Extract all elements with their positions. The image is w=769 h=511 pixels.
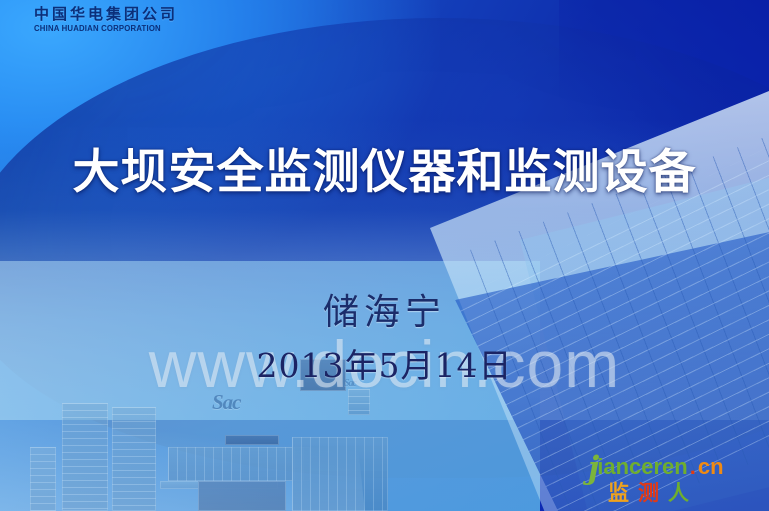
photo-building — [30, 447, 56, 511]
photo-canopy — [225, 435, 279, 445]
title-slide: Sac Sac 中国华电集团公司 CHINA HUADIAN CORPORATI… — [0, 0, 769, 511]
site-logo-char-1: 监 — [608, 481, 638, 505]
corporate-logo: 中国华电集团公司 CHINA HUADIAN CORPORATION — [34, 7, 178, 33]
jianceren-site-logo[interactable]: jianceren.cn 监测人 — [588, 449, 724, 504]
corporate-logo-chinese: 中国华电集团公司 — [34, 7, 178, 22]
site-logo-char-3: 人 — [668, 481, 698, 505]
photo-building — [112, 407, 156, 511]
photo-building — [292, 437, 388, 511]
site-logo-char-2: 测 — [638, 481, 668, 505]
corporate-logo-english: CHINA HUADIAN CORPORATION — [34, 25, 174, 33]
site-logo-initial-glyph: j — [588, 450, 599, 486]
site-logo-dot: . — [690, 454, 696, 479]
photo-gatehouse — [168, 447, 310, 481]
page-title: 大坝安全监测仪器和监测设备 — [0, 133, 769, 202]
site-logo-tld: cn — [698, 454, 724, 479]
photo-building — [62, 403, 108, 511]
background-top-right-corner — [559, 0, 769, 260]
site-logo-chinese: 监测人 — [608, 483, 724, 504]
photo-entrance — [198, 481, 286, 511]
presentation-date: 2013年5月14日 — [0, 339, 769, 387]
author-name: 储海宁 — [0, 283, 769, 335]
site-logo-domain: jianceren.cn — [588, 449, 724, 480]
site-logo-name: ianceren — [597, 454, 688, 479]
